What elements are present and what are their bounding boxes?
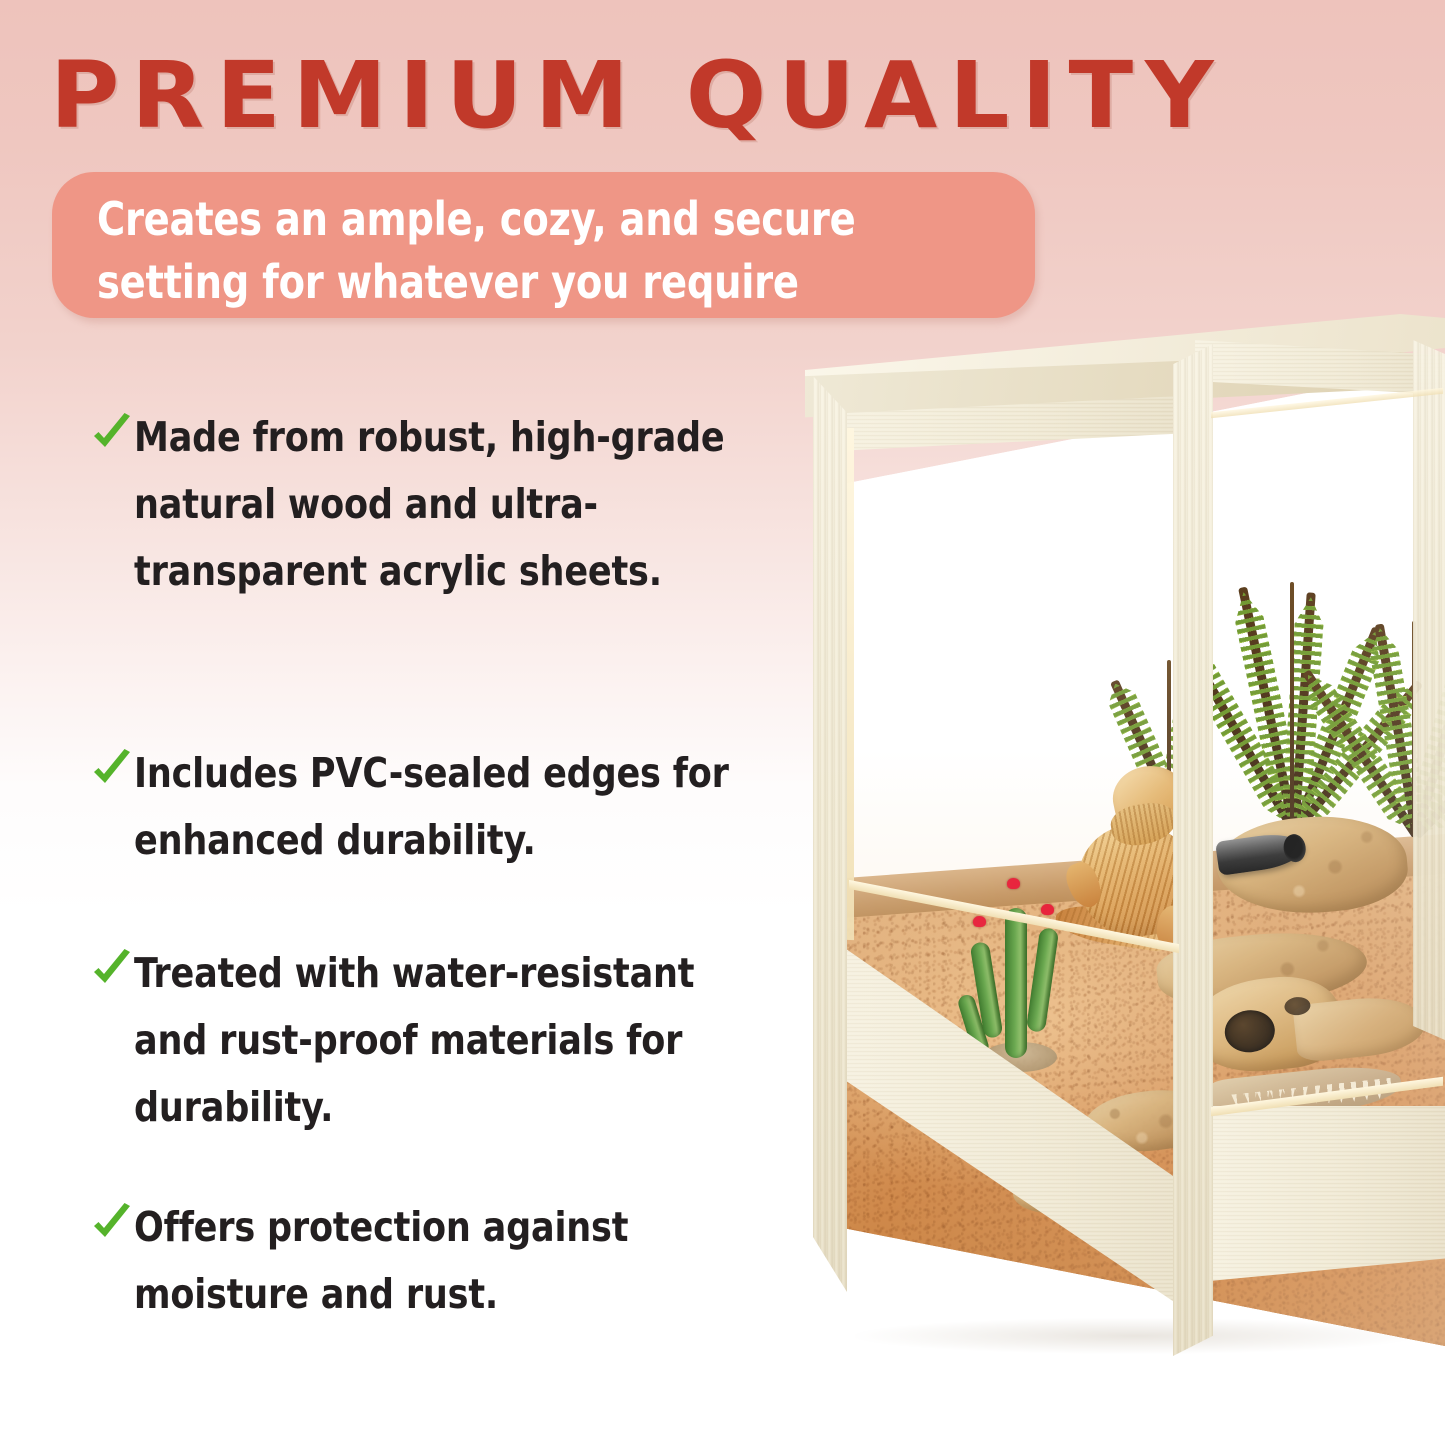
check-icon — [90, 749, 134, 793]
frame-post-front-center — [1173, 344, 1213, 1356]
cactus-arm — [1026, 927, 1059, 1033]
subtitle-line-1: Creates an ample, cozy, and secure — [97, 192, 855, 246]
check-icon — [90, 949, 134, 993]
fern-stem — [1290, 582, 1294, 832]
subtitle-banner-text: Creates an ample, cozy, and secure setti… — [97, 188, 962, 314]
feature-text: Includes PVC-sealed edges for enhanced d… — [134, 740, 753, 874]
cactus-flower — [973, 916, 986, 927]
frame-post-front-left — [813, 376, 847, 1292]
check-icon — [90, 1203, 134, 1247]
feature-text: Treated with water-resistant and rust-pr… — [134, 940, 753, 1141]
feature-item: Treated with water-resistant and rust-pr… — [86, 940, 786, 1141]
subtitle-banner: Creates an ample, cozy, and secure setti… — [52, 172, 1035, 318]
acrylic-channel-lip — [847, 428, 854, 940]
feature-item: Made from robust, high-grade natural woo… — [86, 404, 786, 605]
feature-item: Offers protection against moisture and r… — [86, 1194, 786, 1328]
check-icon — [90, 413, 134, 457]
cactus-arm — [1005, 908, 1027, 1058]
subtitle-line-2: setting for whatever you require — [97, 255, 799, 309]
feature-text: Offers protection against moisture and r… — [134, 1194, 753, 1328]
feature-item: Includes PVC-sealed edges for enhanced d… — [86, 740, 786, 874]
page-title: PREMIUM QUALITY — [50, 48, 1445, 144]
infographic-page: PREMIUM QUALITY Creates an ample, cozy, … — [0, 0, 1445, 1432]
product-photo-terrarium — [795, 300, 1445, 1432]
cactus-flower — [1041, 904, 1054, 915]
cactus-flower — [1007, 878, 1020, 889]
feature-text: Made from robust, high-grade natural woo… — [134, 404, 753, 605]
frame-post-rear-right — [1413, 340, 1445, 1040]
flowering-cactus — [965, 876, 1075, 1066]
